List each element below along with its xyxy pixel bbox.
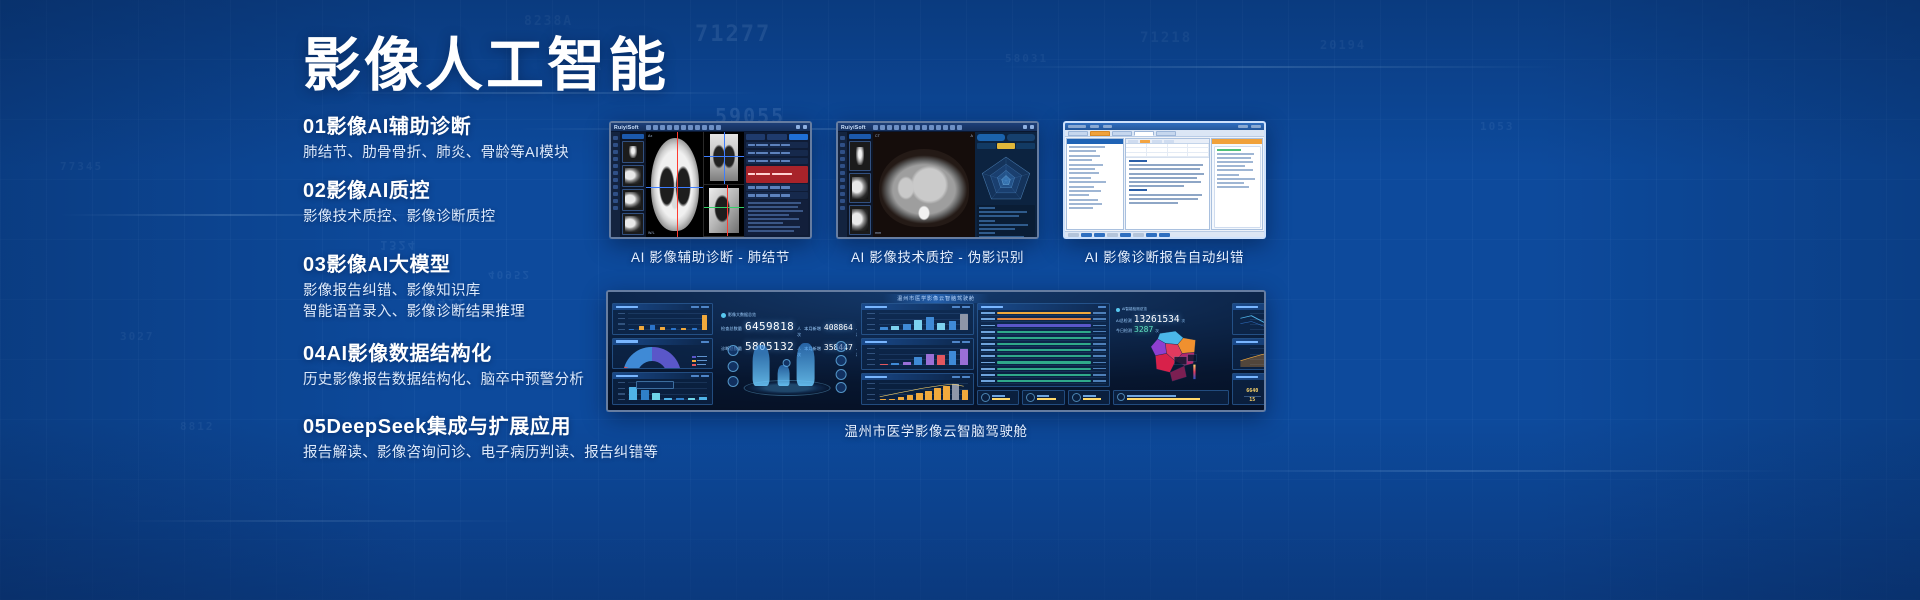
- report-editor-window: [1065, 123, 1264, 237]
- series-thumbnail-list[interactable]: [620, 132, 646, 237]
- qc-viewer-window: RuiyiSoft: [838, 123, 1037, 237]
- bullet-icon: [721, 313, 726, 318]
- axial-view[interactable]: Ax W/L: [646, 132, 704, 237]
- hero-stats-card: 影像大数据总览 检查总数量 6459818 人次 本月新增 408864 人次: [716, 303, 858, 405]
- toolbar-icons[interactable]: [873, 125, 962, 130]
- tab-item: [1068, 131, 1088, 136]
- hero-stats-heading: 影像大数据总览: [728, 312, 756, 318]
- list-item: [981, 311, 1106, 316]
- ai-stat-value: 13261534: [1134, 314, 1180, 325]
- regional-map-card[interactable]: AI智能检测总览 AI总检测 13261534 次 今日检测 3287: [1113, 303, 1229, 387]
- tool-rail[interactable]: [611, 132, 620, 237]
- list-item: [981, 354, 1106, 359]
- hologram-icon[interactable]: [727, 345, 738, 356]
- hologram-icon[interactable]: [836, 369, 847, 380]
- bullet-icon: [1116, 308, 1120, 312]
- tab-item: [1156, 131, 1176, 136]
- kpi-card[interactable]: [977, 390, 1019, 405]
- window-controls[interactable]: [1238, 125, 1261, 128]
- cockpit-dashboard: 温州市医学影像云智脑驾驶舱: [608, 292, 1264, 410]
- dashboard-column-2: 影像大数据总览 检查总数量 6459818 人次 本月新增 408864 人次: [716, 303, 858, 405]
- tool-rail[interactable]: [838, 132, 847, 237]
- chart-card-bar-2[interactable]: [612, 372, 713, 405]
- hero-stat-value: 6459818: [745, 320, 794, 333]
- patient-info-grid: [1126, 144, 1209, 158]
- image-viewport[interactable]: CT A mm: [873, 132, 975, 237]
- kpi-card[interactable]: [1068, 390, 1110, 405]
- finding-row[interactable]: [746, 142, 808, 149]
- tab-item: [1134, 131, 1154, 136]
- kpi-card[interactable]: [1022, 390, 1064, 405]
- list-item: [981, 323, 1106, 328]
- series-thumbnail: [622, 189, 644, 211]
- window-titlebar: RuiyiSoft: [838, 123, 1037, 132]
- toolbar-icons[interactable]: [646, 125, 721, 130]
- report-body-text[interactable]: [1126, 158, 1209, 229]
- hero-stat-value-2: 408864: [824, 323, 853, 332]
- list-item: [981, 360, 1106, 365]
- app-brand-label: RuiyiSoft: [614, 124, 639, 130]
- hero-stat-unit-2: 人次: [856, 326, 858, 338]
- ai-stats-heading: AI智能检测总览: [1122, 307, 1147, 312]
- screenshot-report-auto-correction[interactable]: [1063, 121, 1266, 239]
- series-thumbnail: [622, 165, 644, 187]
- dashboard-title: 温州市医学影像云智脑驾驶舱: [883, 294, 989, 303]
- radar-svg: [979, 154, 1033, 200]
- image-viewport[interactable]: Ax W/L: [646, 132, 744, 237]
- chart-card-bar-1[interactable]: [612, 303, 713, 335]
- overlay-line: [865, 381, 970, 402]
- worklist-tree[interactable]: [1066, 138, 1124, 230]
- screenshot-ai-technical-qc[interactable]: RuiyiSoft: [836, 121, 1039, 239]
- hologram-icon[interactable]: [836, 355, 847, 366]
- dashboard-column-5: AI智能检测总览 AI总检测 13261534 次 今日检测 3287: [1113, 303, 1229, 405]
- screenshot-caption-1: AI 影像辅助诊断 - 肺结节: [609, 246, 812, 266]
- list-item: [981, 373, 1106, 378]
- map-footer-card[interactable]: [1113, 390, 1229, 405]
- area-chart: [1236, 346, 1266, 367]
- info-icon: [1117, 393, 1125, 401]
- banner-stage: 71277 59055 8238A 2.6292 1324 60411 4095…: [0, 0, 1920, 600]
- list-item: [981, 367, 1106, 372]
- tab-item: [1112, 131, 1132, 136]
- ai-stat-row: AI总检测 13261534 次: [1116, 314, 1226, 325]
- finding-row[interactable]: [746, 192, 808, 199]
- chart-card-bar-3[interactable]: [861, 303, 974, 335]
- figure-adult-left: [753, 345, 770, 386]
- figure-child: [778, 365, 789, 386]
- coronal-view[interactable]: [704, 132, 744, 185]
- qc-grade-selector[interactable]: [977, 143, 1035, 149]
- dashboard-grid: 影像大数据总览 检查总数量 6459818 人次 本月新增 408864 人次: [612, 303, 1260, 405]
- list-item: [981, 379, 1106, 384]
- chart-card-line-1[interactable]: [1232, 303, 1266, 335]
- list-item: [981, 348, 1106, 353]
- map-svg: [1114, 330, 1228, 386]
- chart-card-bar-5[interactable]: [861, 373, 974, 405]
- correction-suggestion-card[interactable]: [1214, 146, 1261, 228]
- human-body-hologram: [730, 334, 845, 396]
- hero-stat-label-2: 本月新增: [804, 326, 821, 332]
- list-item: [981, 342, 1106, 347]
- qc-notes: [977, 205, 1035, 239]
- chart-card-donut-1[interactable]: [612, 338, 713, 370]
- line-chart: [1236, 311, 1266, 332]
- qc-tabs[interactable]: [977, 134, 1035, 141]
- finding-row[interactable]: [746, 150, 808, 157]
- hologram-icon[interactable]: [727, 376, 738, 387]
- series-thumbnail: [849, 205, 871, 235]
- window-controls[interactable]: [796, 125, 807, 129]
- hologram-icon[interactable]: [836, 382, 847, 393]
- ai-stat-unit: 次: [1182, 319, 1186, 324]
- app-brand-label: [1068, 125, 1086, 128]
- app-brand-label: RuiyiSoft: [841, 124, 866, 130]
- footer-kpi-cards: [977, 390, 1110, 405]
- axial-view[interactable]: CT A mm: [873, 132, 975, 237]
- tab-bar[interactable]: [1065, 130, 1264, 137]
- findings-action-buttons[interactable]: [746, 134, 808, 140]
- series-thumbnail: [849, 173, 871, 203]
- ranking-list-card[interactable]: [977, 303, 1110, 387]
- ai-stat-label: AI总检测: [1116, 318, 1132, 324]
- screenshot-caption-2: AI 影像技术质控 - 伪影识别: [836, 246, 1039, 266]
- list-item: [981, 336, 1106, 341]
- dashboard-column-1: [612, 303, 713, 405]
- window-controls[interactable]: [1023, 125, 1034, 129]
- figure-adult-right: [796, 343, 814, 386]
- device-icon: [1072, 393, 1081, 402]
- donut-chart: [623, 347, 681, 369]
- series-thumbnail: [622, 141, 644, 163]
- qc-score-panel[interactable]: [975, 132, 1037, 237]
- series-thumbnail: [622, 213, 644, 235]
- dicom-viewer-window: RuiyiSoft: [611, 123, 810, 237]
- chart-card-area-1[interactable]: [1232, 338, 1266, 370]
- series-thumbnail-list[interactable]: [847, 132, 873, 237]
- hospital-icon: [981, 393, 990, 402]
- hologram-icon-center[interactable]: [782, 359, 790, 367]
- chart-card-pie-2[interactable]: 6640 15 98: [1232, 373, 1266, 405]
- screenshot-imaging-cloud-cockpit[interactable]: 温州市医学影像云智脑驾驶舱: [606, 290, 1266, 412]
- dashboard-column-6: 6640 15 98: [1232, 303, 1266, 405]
- qc-radar-chart: [979, 154, 1033, 200]
- doctor-icon: [1026, 393, 1035, 402]
- screenshot-caption-3: AI 影像诊断报告自动纠错: [1063, 246, 1266, 266]
- window-titlebar: [1065, 123, 1264, 130]
- hero-stat-label: 检查总数量: [721, 326, 742, 332]
- tab-item-active: [1090, 131, 1110, 136]
- kpi-column: 6640 15 98: [1238, 388, 1266, 400]
- ai-correction-panel[interactable]: [1211, 138, 1263, 230]
- region-map[interactable]: [1114, 330, 1228, 386]
- chart-card-bar-4[interactable]: [861, 338, 974, 370]
- sagittal-view[interactable]: [704, 185, 744, 238]
- list-item: [981, 330, 1106, 335]
- screenshot-ai-assisted-diagnosis[interactable]: RuiyiSoft: [609, 121, 812, 239]
- window-titlebar: RuiyiSoft: [611, 123, 810, 132]
- ai-findings-panel[interactable]: [744, 132, 810, 237]
- series-thumbnail: [849, 141, 871, 171]
- report-document[interactable]: [1125, 138, 1210, 230]
- page-title: 影像人工智能: [303, 36, 669, 95]
- feature-desc: 报告解读、影像咨询问诊、电子病历判读、报告纠错等: [303, 443, 723, 464]
- dashboard-column-4: [977, 303, 1110, 405]
- hero-stat-unit-2: 人次: [856, 346, 858, 358]
- dashboard-column-3: [861, 303, 974, 405]
- finding-row-highlighted[interactable]: [746, 166, 808, 183]
- finding-row[interactable]: [746, 158, 808, 165]
- hologram-icon[interactable]: [727, 361, 738, 372]
- dashboard-caption: 温州市医学影像云智脑驾驶舱: [606, 420, 1266, 440]
- findings-description: [746, 200, 808, 235]
- ranking-list[interactable]: [981, 311, 1106, 384]
- report-action-bar[interactable]: [1065, 231, 1264, 237]
- chart-legend: [692, 356, 708, 366]
- list-item: [981, 317, 1106, 322]
- finding-row[interactable]: [746, 184, 808, 191]
